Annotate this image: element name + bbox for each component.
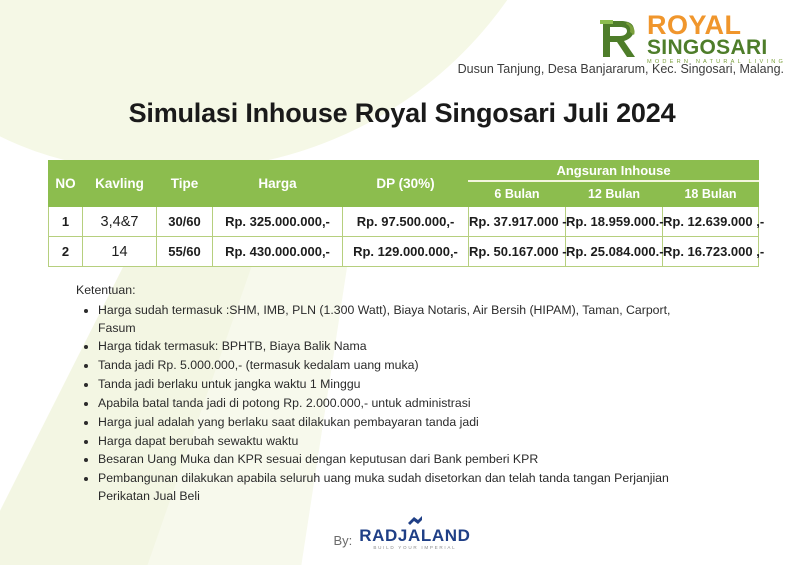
brand-wordmark: ROYAL SINGOSARI MODERN NATURAL LIVING <box>647 12 786 66</box>
cell-harga: Rp. 430.000.000,- <box>213 237 343 267</box>
list-item: Tanda jadi Rp. 5.000.000,- (termasuk ked… <box>98 357 676 375</box>
brand-name-secondary: SINGOSARI <box>647 37 786 58</box>
simulation-table: NO Kavling Tipe Harga DP (30%) Angsuran … <box>48 160 759 267</box>
page-footer: By: RADJALAND BUILD YOUR IMPERIAL <box>0 527 804 551</box>
royal-r-monogram-icon <box>597 18 641 60</box>
developer-logo: RADJALAND BUILD YOUR IMPERIAL <box>359 527 470 551</box>
cell-harga: Rp. 325.000.000,- <box>213 207 343 237</box>
table-header: NO Kavling Tipe Harga DP (30%) Angsuran … <box>49 161 759 207</box>
list-item: Besaran Uang Muka dan KPR sesuai dengan … <box>98 451 676 469</box>
poster-canvas: ROYAL SINGOSARI MODERN NATURAL LIVING Du… <box>0 0 804 565</box>
cell-no: 1 <box>49 207 83 237</box>
list-item: Harga sudah termasuk :SHM, IMB, PLN (1.3… <box>98 302 676 338</box>
table-body: 1 3,4&7 30/60 Rp. 325.000.000,- Rp. 97.5… <box>49 207 759 267</box>
house-roof-icon <box>406 514 424 528</box>
cell-angsuran-18: Rp. 16.723.000 ,- <box>663 237 759 267</box>
list-item: Apabila batal tanda jadi di potong Rp. 2… <box>98 395 676 413</box>
footer-by-label: By: <box>334 533 353 551</box>
column-header-tipe: Tipe <box>157 161 213 207</box>
page-title: Simulasi Inhouse Royal Singosari Juli 20… <box>0 98 804 129</box>
column-group-header-angsuran-inhouse: Angsuran Inhouse <box>469 161 759 182</box>
cell-kavling: 3,4&7 <box>83 207 157 237</box>
column-header-no: NO <box>49 161 83 207</box>
list-item: Harga dapat berubah sewaktu waktu <box>98 433 676 451</box>
cell-angsuran-18: Rp. 12.639.000 ,- <box>663 207 759 237</box>
cell-tipe: 30/60 <box>157 207 213 237</box>
cell-no: 2 <box>49 237 83 267</box>
terms-heading: Ketentuan: <box>76 282 676 300</box>
project-address: Dusun Tanjung, Desa Banjararum, Kec. Sin… <box>458 62 784 76</box>
cell-dp: Rp. 129.000.000,- <box>343 237 469 267</box>
column-header-12-bulan: 12 Bulan <box>566 181 663 207</box>
cell-angsuran-12: Rp. 18.959.000.- <box>566 207 663 237</box>
table-header-row-top: NO Kavling Tipe Harga DP (30%) Angsuran … <box>49 161 759 182</box>
column-header-kavling: Kavling <box>83 161 157 207</box>
simulation-table-container: NO Kavling Tipe Harga DP (30%) Angsuran … <box>48 160 758 267</box>
brand-name-primary: ROYAL <box>647 12 786 39</box>
list-item: Harga tidak termasuk: BPHTB, Biaya Balik… <box>98 338 676 356</box>
developer-name: RADJALAND <box>359 527 470 544</box>
terms-list: Harga sudah termasuk :SHM, IMB, PLN (1.3… <box>76 302 676 506</box>
cell-dp: Rp. 97.500.000,- <box>343 207 469 237</box>
cell-angsuran-6: Rp. 50.167.000 - <box>469 237 566 267</box>
column-header-dp: DP (30%) <box>343 161 469 207</box>
table-row: 2 14 55/60 Rp. 430.000.000,- Rp. 129.000… <box>49 237 759 267</box>
list-item: Harga jual adalah yang berlaku saat dila… <box>98 414 676 432</box>
developer-tagline: BUILD YOUR IMPERIAL <box>359 546 470 551</box>
column-header-harga: Harga <box>213 161 343 207</box>
list-item: Pembangunan dilakukan apabila seluruh ua… <box>98 470 676 506</box>
cell-kavling: 14 <box>83 237 157 267</box>
cell-angsuran-6: Rp. 37.917.000 - <box>469 207 566 237</box>
cell-angsuran-12: Rp. 25.084.000.- <box>566 237 663 267</box>
column-header-18-bulan: 18 Bulan <box>663 181 759 207</box>
page-header: ROYAL SINGOSARI MODERN NATURAL LIVING Du… <box>0 0 804 86</box>
list-item: Tanda jadi berlaku untuk jangka waktu 1 … <box>98 376 676 394</box>
brand-logo: ROYAL SINGOSARI MODERN NATURAL LIVING <box>597 12 786 66</box>
cell-tipe: 55/60 <box>157 237 213 267</box>
table-row: 1 3,4&7 30/60 Rp. 325.000.000,- Rp. 97.5… <box>49 207 759 237</box>
terms-section: Ketentuan: Harga sudah termasuk :SHM, IM… <box>76 282 676 507</box>
column-header-6-bulan: 6 Bulan <box>469 181 566 207</box>
